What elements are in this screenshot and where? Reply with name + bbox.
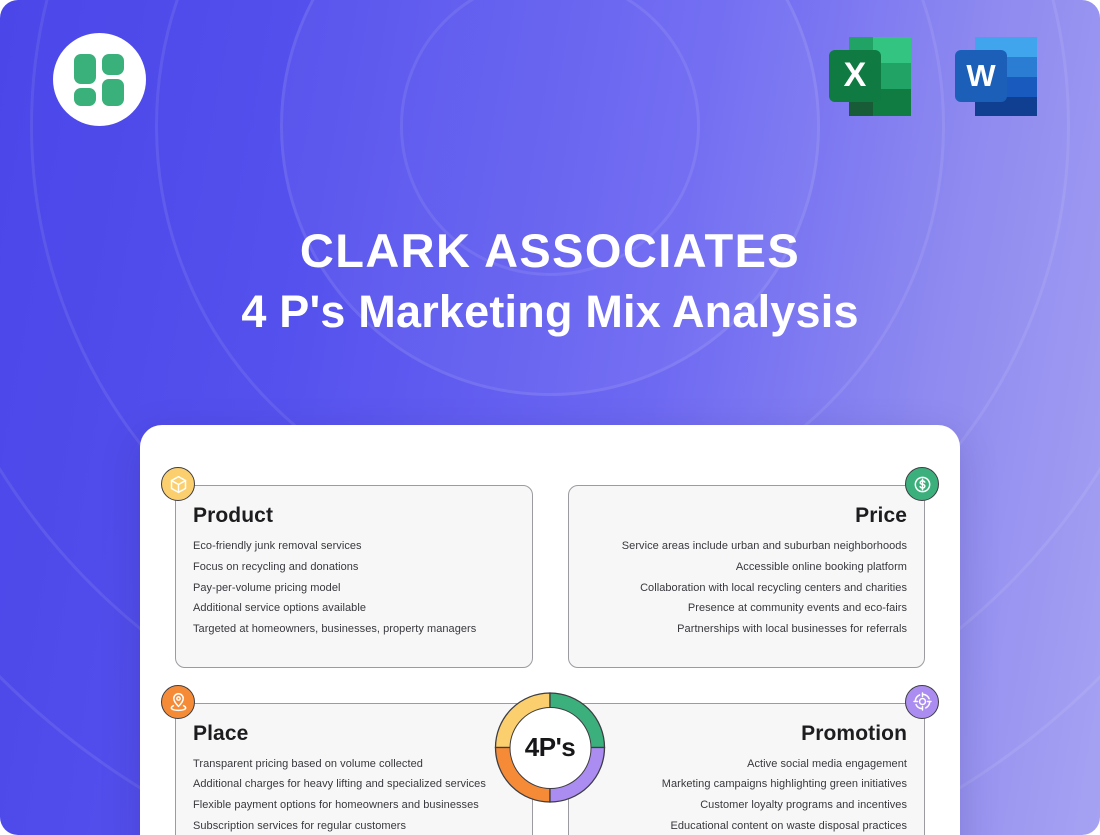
list-item: Additional charges for heavy lifting and… — [193, 778, 515, 790]
four-square-grid-logo-icon — [74, 54, 126, 106]
list-item: Partnerships with local businesses for r… — [586, 623, 908, 635]
list-item: Targeted at homeowners, businesses, prop… — [193, 623, 515, 635]
dollar-coin-icon — [905, 467, 939, 501]
company-name: CLARK ASSOCIATES — [0, 226, 1100, 277]
list-item: Accessible online booking platform — [586, 561, 908, 573]
slide-canvas: X W CLARK ASSOCIATES 4 P's Marketing Mix… — [0, 0, 1100, 835]
list-item: Collaboration with local recycling cente… — [586, 582, 908, 594]
list-item: Active social media engagement — [586, 758, 908, 770]
list-item: Service areas include urban and suburban… — [586, 540, 908, 552]
list-item: Additional service options available — [193, 602, 515, 614]
donut-center-label: 4P's — [509, 707, 591, 789]
list-item: Educational content on waste disposal pr… — [586, 820, 908, 832]
quadrant-promotion[interactable]: Promotion Active social media engagement… — [568, 703, 926, 835]
list-item: Transparent pricing based on volume coll… — [193, 758, 515, 770]
analysis-title: 4 P's Marketing Mix Analysis — [0, 284, 1100, 340]
quadrant-item-list: Eco-friendly junk removal services Focus… — [193, 540, 515, 636]
quadrant-price[interactable]: Price Service areas include urban and su… — [568, 485, 926, 668]
list-item: Pay-per-volume pricing model — [193, 582, 515, 594]
quadrant-product[interactable]: Product Eco-friendly junk removal servic… — [175, 485, 533, 668]
quadrant-title: Product — [193, 504, 515, 528]
list-item: Customer loyalty programs and incentives — [586, 799, 908, 811]
svg-text:X: X — [844, 56, 867, 94]
location-pin-icon — [161, 685, 195, 719]
matrix-card: Product Eco-friendly junk removal servic… — [140, 425, 960, 835]
box-package-icon — [161, 467, 195, 501]
list-item: Eco-friendly junk removal services — [193, 540, 515, 552]
list-item: Marketing campaigns highlighting green i… — [586, 778, 908, 790]
quadrant-place[interactable]: Place Transparent pricing based on volum… — [175, 703, 533, 835]
target-crosshair-icon — [905, 685, 939, 719]
svg-text:W: W — [966, 58, 996, 93]
quadrant-item-list: Active social media engagement Marketing… — [586, 758, 908, 835]
word-icon[interactable]: W — [947, 28, 1045, 126]
list-item: Flexible payment options for homeowners … — [193, 799, 515, 811]
list-item: Presence at community events and eco-fai… — [586, 602, 908, 614]
list-item: Subscription services for regular custom… — [193, 820, 515, 832]
quadrant-title: Place — [193, 722, 515, 746]
excel-icon[interactable]: X — [821, 28, 919, 126]
export-icon-group: X W — [821, 28, 1045, 126]
brand-logo — [53, 33, 146, 126]
page-title: CLARK ASSOCIATES 4 P's Marketing Mix Ana… — [0, 226, 1100, 340]
four-p-donut-chart: 4P's — [488, 685, 613, 810]
quadrant-item-list: Transparent pricing based on volume coll… — [193, 758, 515, 835]
list-item: Focus on recycling and donations — [193, 561, 515, 573]
quadrant-title: Promotion — [586, 722, 908, 746]
quadrant-title: Price — [586, 504, 908, 528]
quadrant-item-list: Service areas include urban and suburban… — [586, 540, 908, 636]
